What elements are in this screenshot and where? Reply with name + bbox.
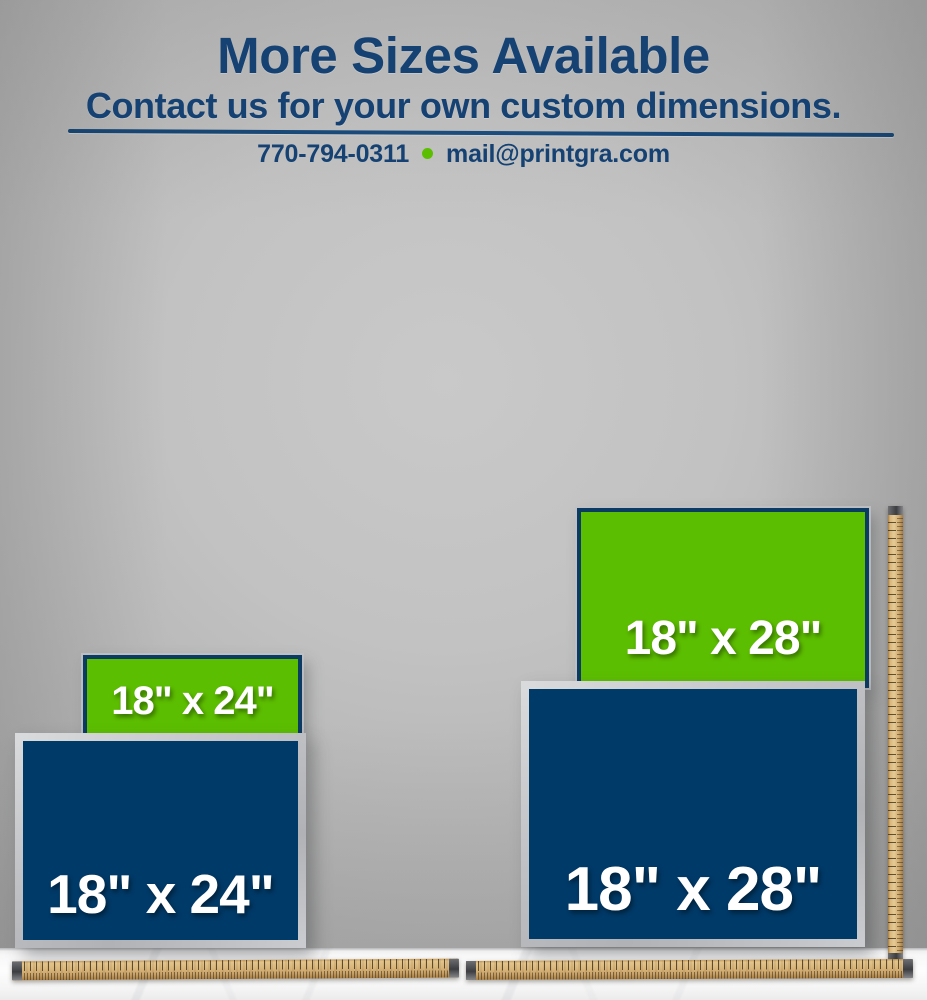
- page-subtitle: Contact us for your own custom dimension…: [0, 87, 927, 126]
- countertop-edge: [0, 948, 927, 951]
- ruler-metal-cap-right: [449, 959, 459, 978]
- sign-size-comparison-poster: More Sizes Available Contact us for your…: [0, 0, 927, 1000]
- header: More Sizes Available Contact us for your…: [0, 0, 927, 126]
- email-address[interactable]: mail@printgra.com: [446, 140, 670, 168]
- ruler-minor-ticks: [466, 959, 913, 980]
- horizontal-wooden-ruler-right: [466, 959, 913, 980]
- right-green-sign[interactable]: 18" x 28": [577, 508, 869, 688]
- vertical-wooden-yardstick: [888, 506, 903, 962]
- left-green-sign-label: 18" x 24": [87, 679, 298, 724]
- ruler-minor-ticks: [12, 959, 459, 981]
- green-dot-icon: [422, 148, 433, 159]
- ruler-metal-cap-left: [12, 961, 22, 980]
- ruler-metal-cap-left: [466, 961, 476, 980]
- left-blue-sign-label: 18" x 24": [23, 862, 298, 926]
- ruler-metal-cap-right: [903, 959, 913, 978]
- ruler-minor-ticks: [888, 506, 903, 962]
- page-title: More Sizes Available: [0, 30, 927, 81]
- left-blue-sign[interactable]: 18" x 24": [15, 733, 306, 948]
- right-blue-sign[interactable]: 18" x 28": [521, 681, 865, 947]
- right-blue-sign-label: 18" x 28": [529, 854, 857, 925]
- header-divider: [68, 129, 894, 137]
- contact-line: 770-794-0311mail@printgra.com: [0, 140, 927, 169]
- left-green-sign[interactable]: 18" x 24": [83, 655, 302, 738]
- horizontal-wooden-ruler-left: [12, 959, 459, 981]
- phone-number[interactable]: 770-794-0311: [257, 140, 409, 168]
- right-green-sign-label: 18" x 28": [581, 611, 865, 666]
- ruler-metal-cap-top: [888, 506, 903, 515]
